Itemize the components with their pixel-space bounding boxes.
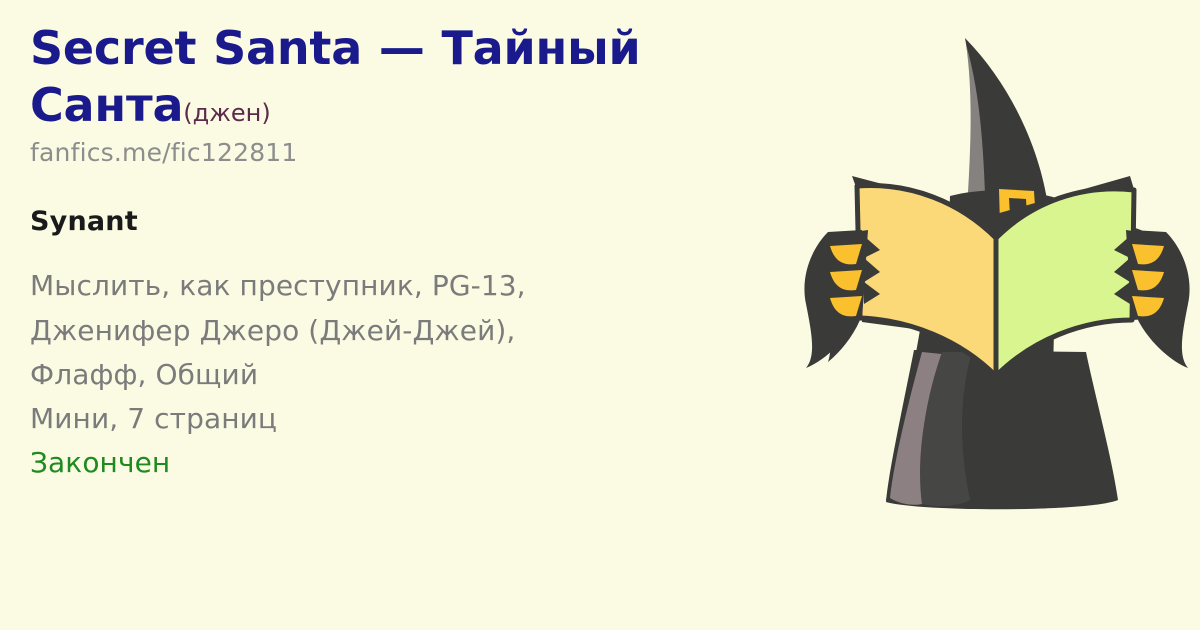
meta-line-fandom-rating: Мыслить, как преступник, PG-13, bbox=[30, 264, 790, 308]
page-title: Secret Santa — Тайный Санта(джен) bbox=[30, 20, 790, 133]
status-badge: Закончен bbox=[30, 441, 790, 485]
figure-reading-book-icon bbox=[800, 0, 1200, 630]
left-hand bbox=[804, 230, 880, 368]
meta-line-characters: Дженифер Джеро (Джей-Джей), bbox=[30, 309, 790, 353]
right-hand bbox=[1114, 230, 1190, 368]
meta-line-genres: Флафф, Общий bbox=[30, 353, 790, 397]
metadata-list: Мыслить, как преступник, PG-13, Дженифер… bbox=[30, 264, 790, 485]
info-column: Secret Santa — Тайный Санта(джен) fanfic… bbox=[30, 20, 790, 486]
social-preview-card: Secret Santa — Тайный Санта(джен) fanfic… bbox=[0, 0, 1200, 630]
author-name: Synant bbox=[30, 207, 790, 237]
source-url: fanfics.me/fic122811 bbox=[30, 139, 790, 167]
meta-line-size: Мини, 7 страниц bbox=[30, 397, 790, 441]
page-title-text: Secret Santa — Тайный Санта bbox=[30, 21, 641, 132]
hooded-figure-reading-book-illustration bbox=[800, 0, 1200, 630]
category-suffix: (джен) bbox=[183, 99, 270, 127]
